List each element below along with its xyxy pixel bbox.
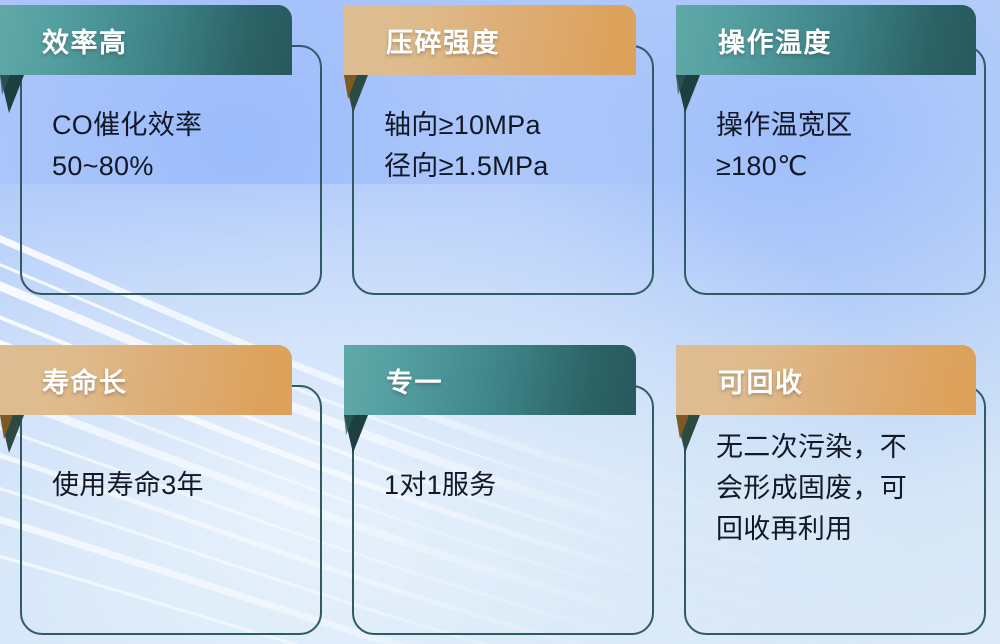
card-title-label: 效率高: [42, 21, 128, 60]
card-banner-recyclable: 可回收: [676, 345, 976, 415]
feature-card-crush-strength[interactable]: 轴向≥10MPa 径向≥1.5MPa: [352, 45, 654, 295]
card-title-label: 操作温度: [718, 21, 832, 60]
card-banner-dedicated-service: 专一: [344, 345, 636, 415]
feature-card-grid: CO催化效率 50~80% 效率高 轴向≥10MPa 径向≥1.5MPa 压碎强…: [0, 0, 1000, 644]
card-title-label: 寿命长: [42, 361, 128, 400]
card-title-label: 压碎强度: [386, 21, 500, 60]
card-body-text: 1对1服务: [384, 465, 638, 506]
card-body-text: 无二次污染，不 会形成固废，可 回收再利用: [716, 427, 970, 550]
feature-card-efficiency[interactable]: CO催化效率 50~80%: [20, 45, 322, 295]
card-title-label: 可回收: [718, 361, 804, 400]
banner-fold-icon: [676, 415, 702, 453]
card-body-text: 轴向≥10MPa 径向≥1.5MPa: [384, 105, 638, 187]
banner-fold-icon: [0, 415, 26, 453]
card-banner-operating-temperature: 操作温度: [676, 5, 976, 75]
feature-card-operating-temperature[interactable]: 操作温宽区 ≥180℃: [684, 45, 986, 295]
card-banner-crush-strength: 压碎强度: [344, 5, 636, 75]
feature-card-long-life[interactable]: 使用寿命3年: [20, 385, 322, 635]
banner-fold-icon: [0, 75, 26, 113]
infographic-canvas: CO催化效率 50~80% 效率高 轴向≥10MPa 径向≥1.5MPa 压碎强…: [0, 0, 1000, 644]
card-banner-efficiency: 效率高: [0, 5, 292, 75]
feature-card-recyclable[interactable]: 无二次污染，不 会形成固废，可 回收再利用: [684, 385, 986, 635]
feature-card-dedicated-service[interactable]: 1对1服务: [352, 385, 654, 635]
card-body-text: CO催化效率 50~80%: [52, 105, 306, 187]
card-body-text: 使用寿命3年: [52, 465, 306, 506]
banner-fold-icon: [344, 415, 370, 453]
card-body-text: 操作温宽区 ≥180℃: [716, 105, 970, 187]
banner-fold-icon: [676, 75, 702, 113]
banner-fold-icon: [344, 75, 370, 113]
card-banner-long-life: 寿命长: [0, 345, 292, 415]
card-title-label: 专一: [386, 361, 443, 400]
